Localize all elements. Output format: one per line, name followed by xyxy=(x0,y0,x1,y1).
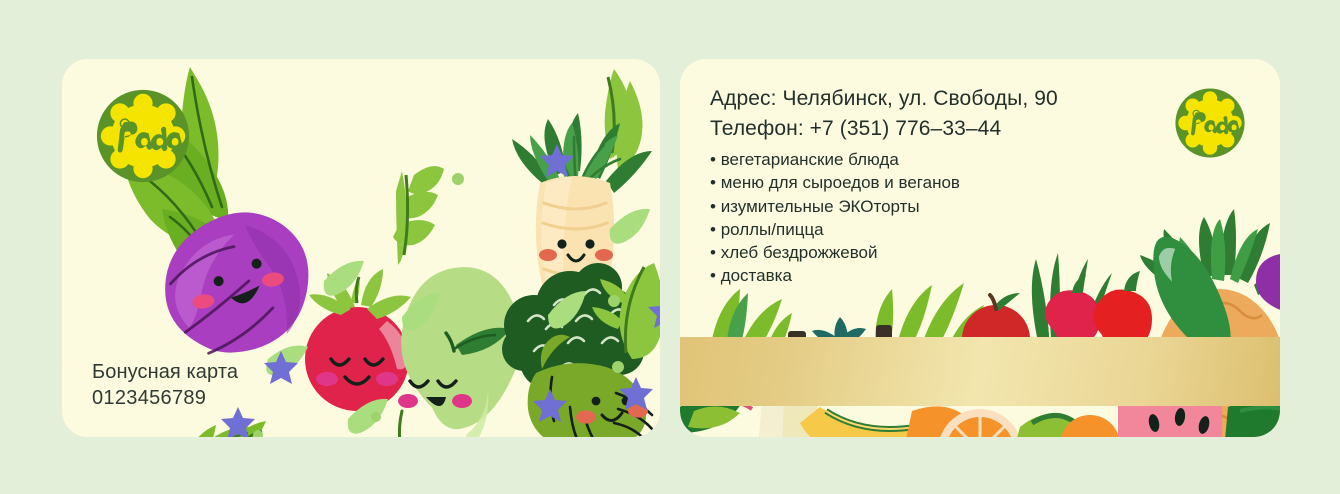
rada-flower-logo xyxy=(95,88,191,184)
bonus-card-label: Бонусная карта xyxy=(92,359,238,386)
business-card-mockup: Бонусная карта 0123456789 xyxy=(0,0,1340,494)
bonus-card-text: Бонусная карта 0123456789 xyxy=(92,359,238,412)
loyalty-card-back: Адрес: Челябинск, ул. Свободы, 90 Телефо… xyxy=(680,59,1280,437)
brand-logo-front xyxy=(95,88,191,184)
bonus-card-number: 0123456789 xyxy=(92,385,238,412)
loyalty-card-front: Бонусная карта 0123456789 xyxy=(62,59,660,437)
magnetic-stripe xyxy=(680,337,1280,406)
